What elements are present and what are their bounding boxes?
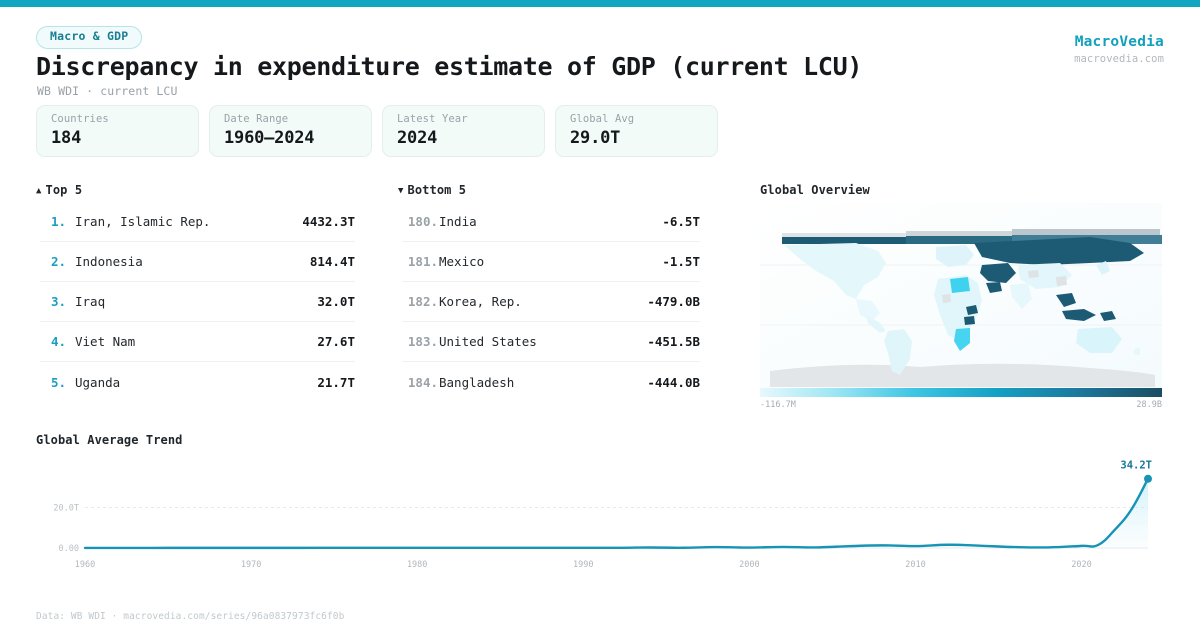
map-colorbar xyxy=(760,388,1162,397)
triangle-up-icon: ▲ xyxy=(36,186,42,196)
colorbar-min-label: -116.7M xyxy=(760,400,796,410)
country-value: 814.4T xyxy=(310,254,355,269)
country-value: 21.7T xyxy=(317,375,355,390)
country-name: Indonesia xyxy=(66,254,310,269)
stat-label: Countries xyxy=(51,113,184,125)
list-item[interactable]: 4. Viet Nam 27.6T xyxy=(40,322,355,362)
svg-text:2020: 2020 xyxy=(1071,560,1091,570)
map-heading: Global Overview xyxy=(760,183,870,197)
trend-chart[interactable]: 20.0T0.00 34.2T 196019701980199020002010… xyxy=(36,455,1164,575)
chart-y-axis-labels: 20.0T0.00 xyxy=(53,504,79,555)
rank-number: 184. xyxy=(402,375,438,390)
rank-number: 4. xyxy=(40,334,66,349)
stat-cards: Countries 184 Date Range 1960—2024 Lates… xyxy=(36,105,718,157)
bottom5-heading-label: Bottom 5 xyxy=(408,183,467,197)
country-name: Viet Nam xyxy=(66,334,317,349)
stat-card-date-range: Date Range 1960—2024 xyxy=(209,105,372,157)
bottom5-list: 180. India -6.5T 181. Mexico -1.5T 182. … xyxy=(402,202,700,402)
rank-number: 2. xyxy=(40,254,66,269)
triangle-down-icon: ▼ xyxy=(398,186,404,196)
rank-number: 180. xyxy=(402,214,438,229)
rank-number: 182. xyxy=(402,294,438,309)
svg-text:1960: 1960 xyxy=(75,560,95,570)
trend-heading: Global Average Trend xyxy=(36,433,183,447)
country-name: Uganda xyxy=(66,375,317,390)
svg-text:20.0T: 20.0T xyxy=(53,504,79,514)
rank-number: 5. xyxy=(40,375,66,390)
infographic-page: Macro & GDP Discrepancy in expenditure e… xyxy=(0,0,1200,630)
chart-line xyxy=(85,479,1148,548)
svg-text:0.00: 0.00 xyxy=(59,544,79,554)
list-item[interactable]: 2. Indonesia 814.4T xyxy=(40,242,355,282)
country-value: -1.5T xyxy=(662,254,700,269)
country-value: -479.0B xyxy=(647,294,700,309)
footer-source: Data: WB WDI · macrovedia.com/series/96a… xyxy=(36,611,344,622)
list-item[interactable]: 3. Iraq 32.0T xyxy=(40,282,355,322)
chart-gridlines xyxy=(85,508,1148,549)
stat-value: 29.0T xyxy=(570,128,703,148)
list-item[interactable]: 182. Korea, Rep. -479.0B xyxy=(402,282,700,322)
country-value: -451.5B xyxy=(647,334,700,349)
top5-list: 1. Iran, Islamic Rep. 4432.3T 2. Indones… xyxy=(40,202,355,402)
svg-text:2000: 2000 xyxy=(739,560,759,570)
accent-bar xyxy=(0,0,1200,7)
stat-value: 2024 xyxy=(397,128,530,148)
list-item[interactable]: 181. Mexico -1.5T xyxy=(402,242,700,282)
list-item[interactable]: 184. Bangladesh -444.0B xyxy=(402,362,700,402)
list-item[interactable]: 5. Uganda 21.7T xyxy=(40,362,355,402)
chart-end-label: 34.2T xyxy=(1120,460,1152,472)
list-item[interactable]: 183. United States -451.5B xyxy=(402,322,700,362)
chart-x-axis-labels: 1960197019801990200020102020 xyxy=(75,560,1092,570)
stat-value: 1960—2024 xyxy=(224,128,357,148)
country-value: 4432.3T xyxy=(302,214,355,229)
page-subtitle: WB WDI · current LCU xyxy=(37,84,177,98)
svg-text:2010: 2010 xyxy=(905,560,925,570)
list-item[interactable]: 1. Iran, Islamic Rep. 4432.3T xyxy=(40,202,355,242)
country-name: Bangladesh xyxy=(438,375,647,390)
rank-number: 181. xyxy=(402,254,438,269)
rank-number: 3. xyxy=(40,294,66,309)
chart-area-fill xyxy=(85,479,1148,548)
country-name: United States xyxy=(438,334,647,349)
world-choropleth-map[interactable] xyxy=(760,203,1162,389)
stat-label: Global Avg xyxy=(570,113,703,125)
country-value: -6.5T xyxy=(662,214,700,229)
stat-value: 184 xyxy=(51,128,184,148)
top5-heading-label: Top 5 xyxy=(46,183,83,197)
rank-number: 183. xyxy=(402,334,438,349)
svg-text:1990: 1990 xyxy=(573,560,593,570)
svg-text:1970: 1970 xyxy=(241,560,261,570)
country-value: 27.6T xyxy=(317,334,355,349)
brand: MacroVedia macrovedia.com xyxy=(1074,34,1164,65)
colorbar-max-label: 28.9B xyxy=(1120,400,1162,410)
category-badge[interactable]: Macro & GDP xyxy=(36,26,142,49)
top5-heading: ▲Top 5 xyxy=(36,183,82,197)
brand-url: macrovedia.com xyxy=(1074,53,1164,65)
brand-name: MacroVedia xyxy=(1074,34,1164,50)
stat-label: Date Range xyxy=(224,113,357,125)
stat-card-countries: Countries 184 xyxy=(36,105,199,157)
country-name: Mexico xyxy=(438,254,662,269)
stat-card-latest-year: Latest Year 2024 xyxy=(382,105,545,157)
svg-text:1980: 1980 xyxy=(407,560,427,570)
stat-card-global-avg: Global Avg 29.0T xyxy=(555,105,718,157)
country-name: India xyxy=(438,214,662,229)
bottom5-heading: ▼Bottom 5 xyxy=(398,183,466,197)
country-value: 32.0T xyxy=(317,294,355,309)
country-name: Korea, Rep. xyxy=(438,294,647,309)
chart-end-point xyxy=(1144,475,1152,483)
page-title: Discrepancy in expenditure estimate of G… xyxy=(36,52,862,81)
stat-label: Latest Year xyxy=(397,113,530,125)
rank-number: 1. xyxy=(40,214,66,229)
country-name: Iraq xyxy=(66,294,317,309)
country-name: Iran, Islamic Rep. xyxy=(66,214,302,229)
list-item[interactable]: 180. India -6.5T xyxy=(402,202,700,242)
country-value: -444.0B xyxy=(647,375,700,390)
